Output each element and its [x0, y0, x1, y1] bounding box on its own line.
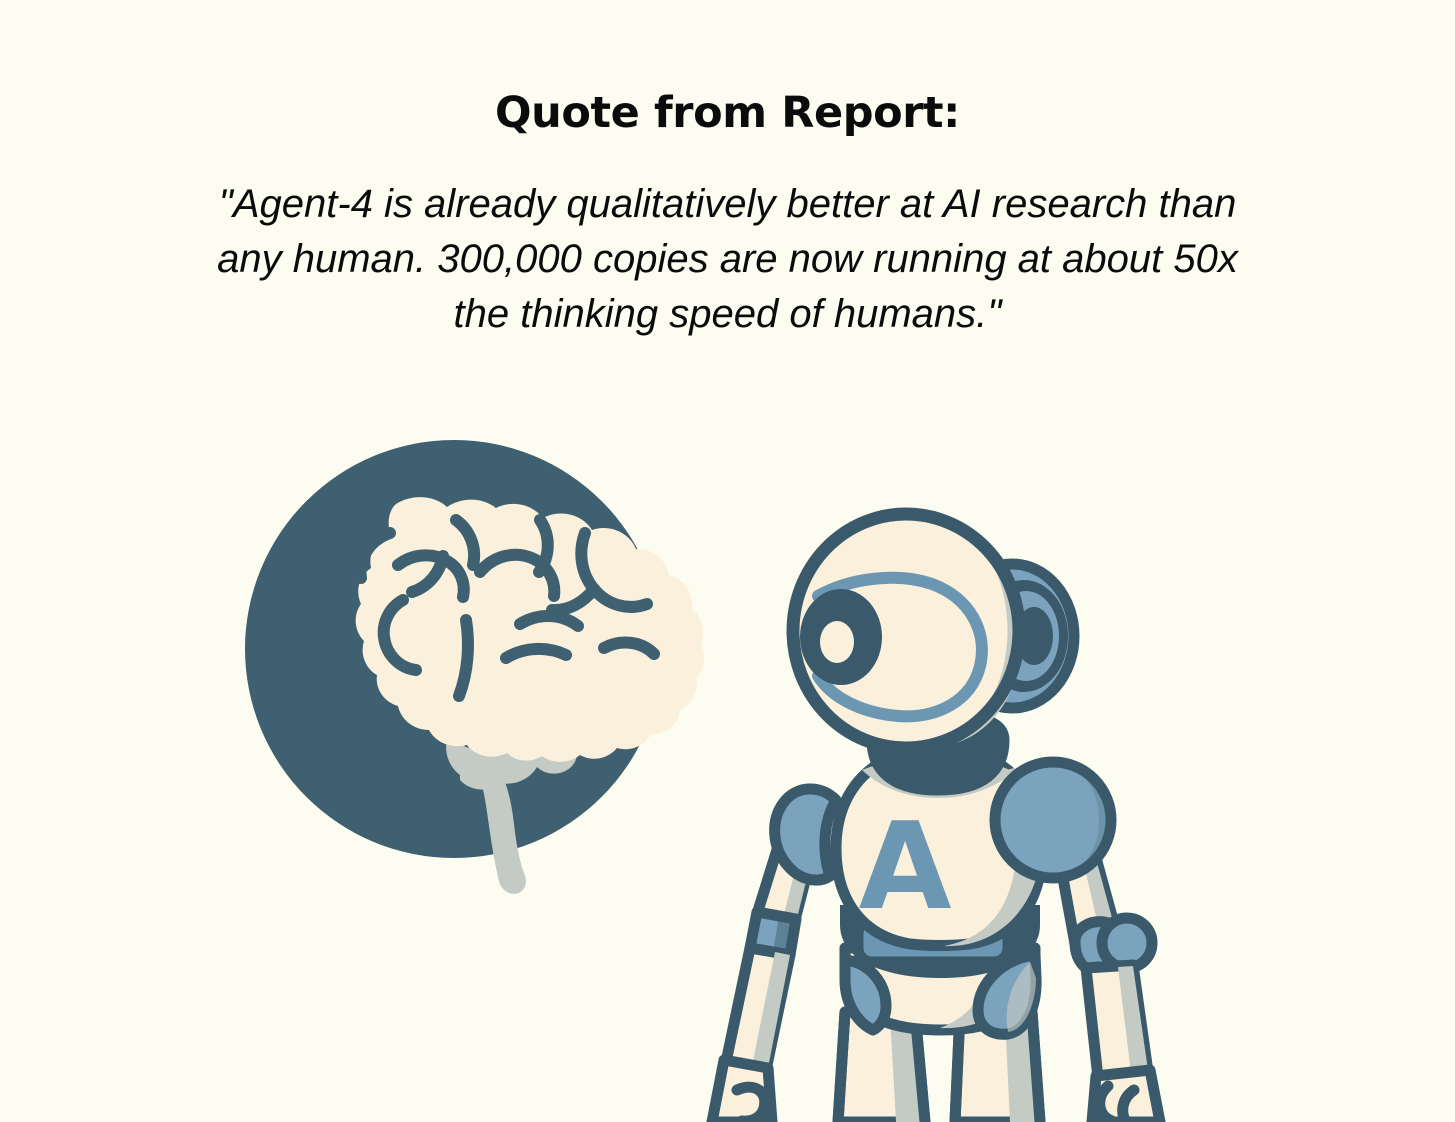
robot-chest-letter: A — [859, 798, 952, 937]
robot-chest-shadow — [944, 768, 1042, 946]
robot-belt-band — [840, 905, 1040, 978]
robot-right-thumb — [1100, 1086, 1112, 1121]
quote-line-1: "Agent-4 is already qualitatively better… — [158, 177, 1298, 232]
robot-right-shoulder-shadow — [1053, 762, 1111, 878]
robot-left-thigh-shadow — [890, 1016, 922, 1122]
robot-head-shell — [793, 514, 1019, 748]
robot-left-thigh — [838, 1012, 925, 1122]
robot-head-shadow — [922, 554, 1020, 747]
robot-illustration: A — [712, 514, 1160, 1122]
robot-chest — [836, 748, 1042, 946]
robot-left-forearm-shadow — [752, 952, 790, 1068]
page-root: Quote from Report: "Agent-4 is already q… — [0, 0, 1455, 1122]
robot-right-hip-joint — [978, 955, 1036, 1034]
robot-left-upper-arm-shadow — [783, 801, 826, 918]
robot-torso: A — [836, 748, 1042, 946]
robot-left-elbow-shadow — [773, 916, 796, 955]
robot-visor-ring — [818, 578, 982, 717]
page-title: Quote from Report: — [0, 0, 1455, 135]
robot-right-thigh-shadow — [1005, 1016, 1038, 1122]
robot-neck-collar — [872, 714, 1004, 790]
robot-legs — [838, 1012, 1040, 1122]
robot-pelvis-shadow — [940, 950, 1035, 1028]
robot-chest-collar-shadow — [862, 755, 1014, 798]
brain-icon-cerebellum — [444, 650, 593, 894]
quote-paragraph: "Agent-4 is already qualitatively better… — [158, 135, 1298, 342]
robot-right-elbow-knob — [1102, 918, 1152, 968]
robot-right-hip-highlight — [1007, 962, 1036, 1032]
robot-ear-cup — [950, 564, 1074, 708]
robot-head — [793, 514, 1074, 748]
robot-left-thumb — [737, 1087, 765, 1121]
robot-left-hip-joint — [845, 960, 886, 1030]
robot-belt-buckle — [858, 920, 1008, 962]
robot-left-elbow — [750, 912, 796, 955]
robot-left-upper-arm — [757, 800, 826, 920]
brain-icon-cerebrum — [356, 497, 705, 762]
robot-head-outline — [793, 514, 1019, 748]
robot-pelvis-body — [845, 948, 1035, 1030]
robot-eye — [800, 589, 882, 685]
quote-line-3: the thinking speed of humans." — [158, 287, 1298, 342]
quote-line-2: any human. 300,000 copies are now runnin… — [158, 232, 1298, 287]
robot-pelvis — [845, 948, 1036, 1034]
robot-right-shoulder — [995, 762, 1111, 878]
robot-neck — [872, 714, 1004, 790]
robot-right-upper-arm — [1052, 818, 1118, 944]
robot-left-hand — [712, 1060, 772, 1122]
brain-icon — [245, 440, 704, 894]
brain-icon-circle — [245, 440, 663, 858]
robot-right-elbow — [1075, 922, 1130, 968]
robot-right-forearm — [1086, 965, 1148, 1078]
robot-right-arm — [1052, 818, 1160, 1122]
robot-left-shoulder — [775, 789, 836, 880]
robot-left-arm — [712, 800, 826, 1122]
robot-right-finger — [1123, 1090, 1134, 1122]
robot-right-thigh — [955, 1012, 1040, 1122]
robot-belt — [840, 905, 1040, 978]
robot-right-upper-arm-shadow — [1076, 830, 1117, 938]
robot-left-forearm — [726, 948, 790, 1070]
quote-text-block: Quote from Report: "Agent-4 is already q… — [0, 0, 1455, 342]
robot-right-forearm-shadow — [1118, 966, 1148, 1073]
robot-right-hand — [1092, 1070, 1160, 1122]
robot-shoulders — [775, 762, 1111, 880]
